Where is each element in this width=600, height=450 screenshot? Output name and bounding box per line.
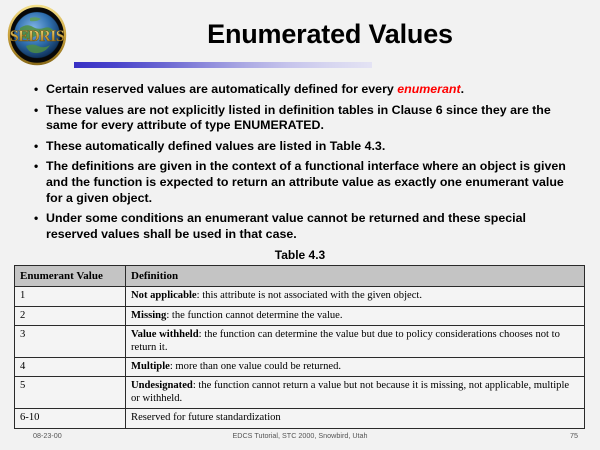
list-item: • The definitions are given in the conte…: [34, 159, 574, 206]
bullet-text: These values are not explicitly listed i…: [46, 103, 574, 134]
bullet-text: The definitions are given in the context…: [46, 159, 574, 206]
slide-footer: 08-23-00 EDCS Tutorial, STC 2000, Snowbi…: [0, 431, 600, 445]
cell-definition: Multiple: more than one value could be r…: [126, 358, 585, 377]
definition-text: Reserved for future standardization: [131, 412, 281, 423]
svg-text:SEDRIS: SEDRIS: [10, 28, 65, 45]
bullet-text-post: .: [461, 82, 464, 96]
title-gradient-rule: [74, 62, 372, 68]
definition-term: Value withheld: [131, 329, 199, 340]
bullet-dot-icon: •: [34, 82, 46, 98]
list-item: • These values are not explicitly listed…: [34, 103, 574, 134]
bullet-dot-icon: •: [34, 211, 46, 227]
bullet-dot-icon: •: [34, 103, 46, 119]
cell-enumerant-value: 6-10: [15, 409, 126, 428]
footer-page-number: 75: [570, 431, 578, 440]
footer-event-label: EDCS Tutorial, STC 2000, Snowbird, Utah: [0, 431, 600, 440]
table-row: 6-10 Reserved for future standardization: [15, 409, 585, 428]
bullet-list: • Certain reserved values are automatica…: [34, 82, 574, 247]
cell-enumerant-value: 1: [15, 287, 126, 306]
definition-term: Not applicable: [131, 290, 197, 301]
table-row: 3 Value withheld: the function can deter…: [15, 326, 585, 358]
table-row: 2 Missing: the function cannot determine…: [15, 306, 585, 325]
page-title: Enumerated Values: [75, 18, 585, 50]
bullet-dot-icon: •: [34, 159, 46, 175]
list-item: • These automatically defined values are…: [34, 139, 574, 155]
table-row: 4 Multiple: more than one value could be…: [15, 358, 585, 377]
slide-header: SEDRIS Enumerated Values: [0, 0, 600, 72]
table-caption: Table 4.3: [0, 248, 600, 262]
cell-enumerant-value: 4: [15, 358, 126, 377]
bullet-emphasis: enumerant: [397, 82, 460, 96]
bullet-dot-icon: •: [34, 139, 46, 155]
globe-logo-icon: SEDRIS: [6, 4, 68, 66]
column-header-definition: Definition: [126, 266, 585, 287]
cell-enumerant-value: 2: [15, 306, 126, 325]
list-item: • Under some conditions an enumerant val…: [34, 211, 574, 242]
definition-text: : more than one value could be returned.: [170, 361, 341, 372]
enumerant-values-table: Enumerant Value Definition 1 Not applica…: [14, 265, 585, 429]
table-header-row: Enumerant Value Definition: [15, 266, 585, 287]
bullet-text: Under some conditions an enumerant value…: [46, 211, 574, 242]
column-header-enumerant-value: Enumerant Value: [15, 266, 126, 287]
list-item: • Certain reserved values are automatica…: [34, 82, 574, 98]
table-row: 5 Undesignated: the function cannot retu…: [15, 377, 585, 409]
definition-text: : this attribute is not associated with …: [197, 290, 422, 301]
bullet-text-pre: Certain reserved values are automaticall…: [46, 82, 397, 96]
definition-term: Multiple: [131, 361, 170, 372]
definition-text: : the function cannot return a value but…: [131, 380, 569, 403]
cell-enumerant-value: 5: [15, 377, 126, 409]
cell-definition: Reserved for future standardization: [126, 409, 585, 428]
definition-term: Missing: [131, 310, 166, 321]
sedris-logo: SEDRIS: [6, 4, 68, 66]
cell-definition: Value withheld: the function can determi…: [126, 326, 585, 358]
definition-term: Undesignated: [131, 380, 193, 391]
cell-definition: Missing: the function cannot determine t…: [126, 306, 585, 325]
cell-definition: Not applicable: this attribute is not as…: [126, 287, 585, 306]
definition-text: : the function cannot determine the valu…: [166, 310, 342, 321]
cell-definition: Undesignated: the function cannot return…: [126, 377, 585, 409]
table-row: 1 Not applicable: this attribute is not …: [15, 287, 585, 306]
cell-enumerant-value: 3: [15, 326, 126, 358]
bullet-text: Certain reserved values are automaticall…: [46, 82, 574, 98]
bullet-text: These automatically defined values are l…: [46, 139, 574, 155]
